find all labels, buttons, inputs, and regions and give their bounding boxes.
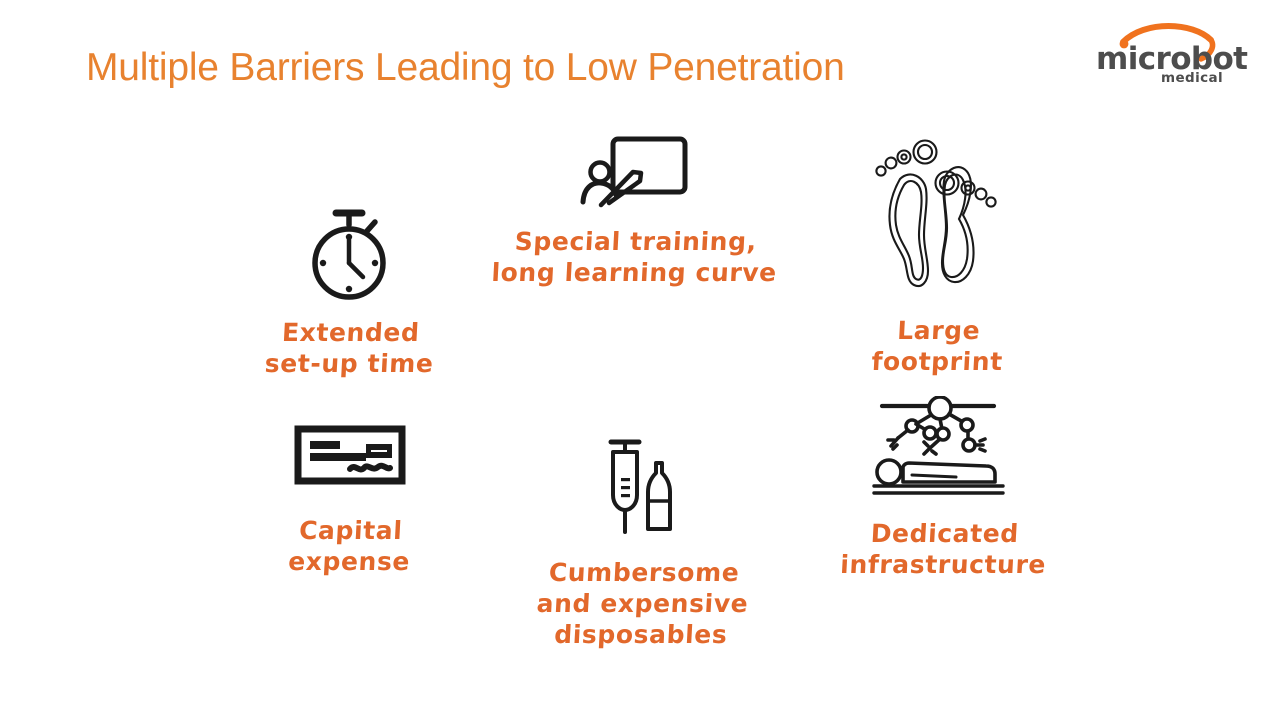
brand-logo: microbot medical xyxy=(1093,22,1253,84)
barrier-caption-capital: Capital expense xyxy=(248,515,451,577)
barrier-caption-disposables: Cumbersome and expensive disposables xyxy=(518,557,768,650)
barrier-caption-training: Special training, long learning curve xyxy=(468,226,801,288)
bank-check-icon xyxy=(250,425,450,485)
barrier-item-training: Special training, long learning curve xyxy=(470,133,800,288)
barrier-item-infrastructure: Dedicated infrastructure xyxy=(828,396,1060,580)
barrier-item-capital: Capital expense xyxy=(250,425,450,577)
barrier-caption-footprint: Large footprint xyxy=(846,315,1029,377)
barrier-item-setup-time: Extended set-up time xyxy=(230,205,470,379)
barrier-item-footprint: Large footprint xyxy=(848,135,1028,377)
page-title: Multiple Barriers Leading to Low Penetra… xyxy=(86,42,845,94)
stopwatch-icon xyxy=(230,205,470,303)
teacher-whiteboard-icon xyxy=(470,133,800,208)
barrier-caption-infrastructure: Dedicated infrastructure xyxy=(826,518,1061,580)
logo-subtitle: medical xyxy=(1161,70,1223,84)
microbot-medical-logo-icon: microbot medical xyxy=(1093,22,1253,84)
barrier-caption-setup-time: Extended set-up time xyxy=(228,317,471,379)
slide-canvas: Multiple Barriers Leading to Low Penetra… xyxy=(0,0,1280,720)
logo-swoosh-icon xyxy=(1123,26,1211,42)
surgical-robot-patient-icon xyxy=(828,396,1060,500)
syringe-ampoule-icon xyxy=(520,437,765,535)
footprints-icon xyxy=(848,135,1028,297)
barrier-item-disposables: Cumbersome and expensive disposables xyxy=(520,437,765,650)
